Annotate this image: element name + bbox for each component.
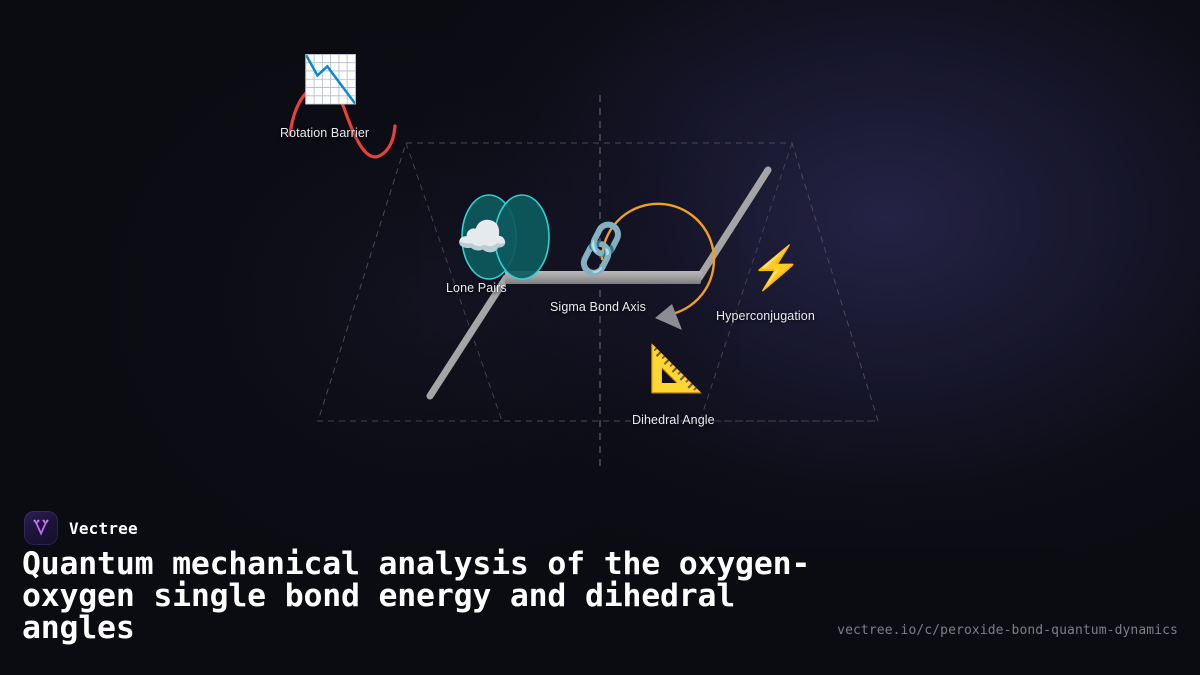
label-sigma-bond-axis: Sigma Bond Axis (550, 300, 646, 314)
vectree-logo[interactable] (24, 511, 58, 545)
triangular-ruler-icon: 📐 (648, 345, 705, 391)
label-rotation-barrier: Rotation Barrier (280, 126, 369, 140)
dihedral-rotation-arrowhead (655, 304, 682, 330)
label-lone-pairs: Lone Pairs (446, 281, 507, 295)
label-hyperconjugation: Hyperconjugation (716, 309, 815, 323)
brand-row[interactable]: Vectree (24, 511, 138, 545)
vectree-v-tree-logo-icon (30, 517, 52, 539)
brand-name: Vectree (69, 519, 138, 538)
cloud-icon: ☁️ (456, 216, 508, 258)
page-headline: Quantum mechanical analysis of the oxyge… (22, 548, 852, 644)
label-dihedral-angle: Dihedral Angle (632, 413, 715, 427)
screenshot-canvas: 📉 ☁️ 🔗 ⚡ 📐 Rotation Barrier Lone Pairs S… (0, 0, 1200, 675)
source-url: vectree.io/c/peroxide-bond-quantum-dynam… (837, 623, 1178, 638)
footer-branding-block: Vectree Quantum mechanical analysis of t… (0, 500, 1200, 675)
chart-decreasing-icon: 📉 (302, 56, 359, 102)
bond-line-left (430, 278, 506, 396)
high-voltage-icon: ⚡ (750, 247, 802, 289)
